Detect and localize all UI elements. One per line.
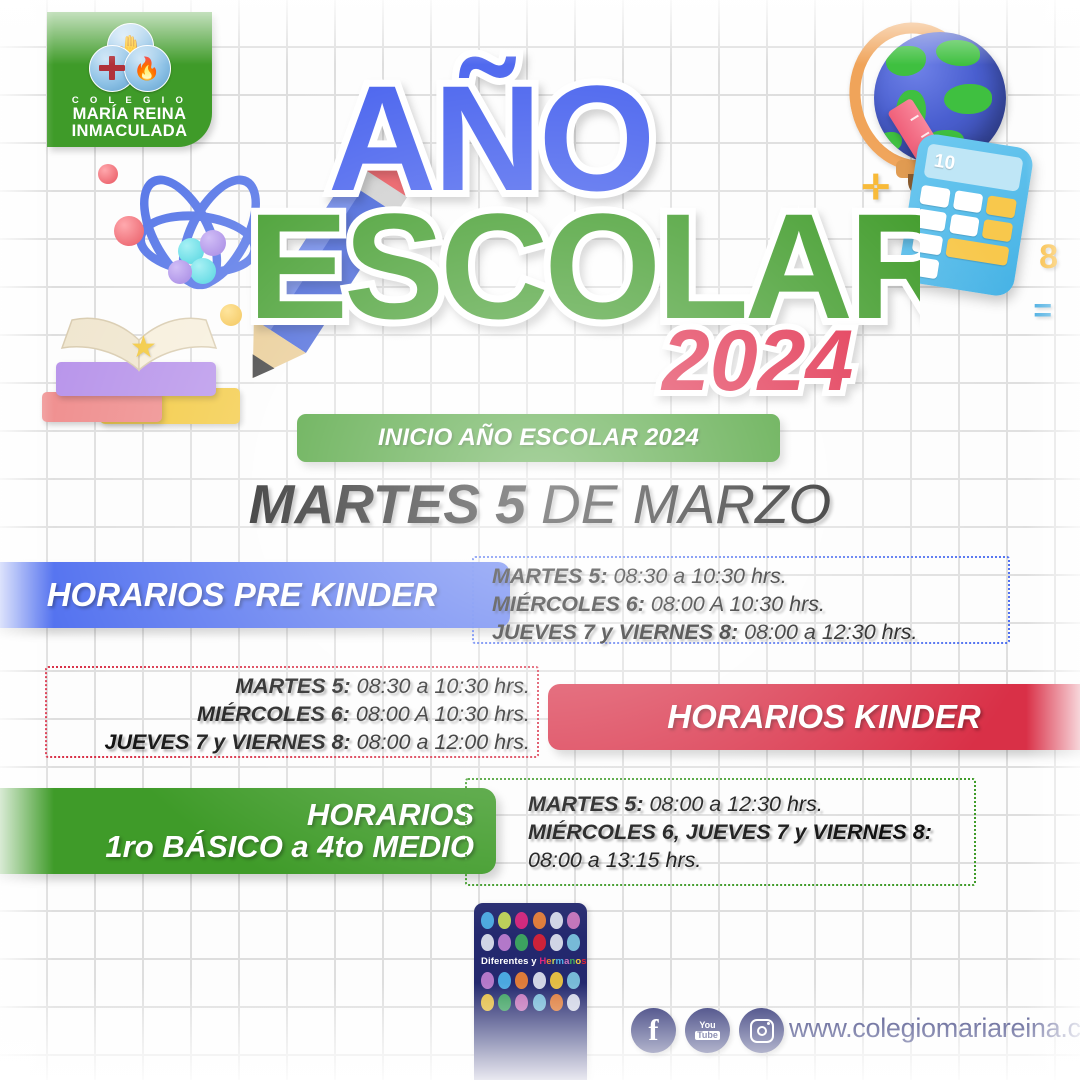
caption-part1: Diferentes y bbox=[481, 956, 539, 967]
poster-caption: Diferentes y Hermanos bbox=[481, 956, 580, 967]
schedule-line: MARTES 5: 08:00 a 12:30 hrs. bbox=[528, 790, 932, 818]
schedule-line: MIÉRCOLES 6, JUEVES 7 y VIERNES 8: bbox=[528, 818, 932, 846]
schedule-line: JUEVES 7 y VIERNES 8: 08:00 a 12:00 hrs. bbox=[60, 728, 530, 756]
fingerprint-row bbox=[481, 972, 580, 989]
schedule-label-text: HORARIOS 1ro BÁSICO a 4to MEDIO bbox=[105, 799, 474, 863]
diferentes-y-hermanos-poster: Diferentes y Hermanos bbox=[474, 903, 587, 1080]
plus-sign-icon: ✛ bbox=[862, 168, 891, 208]
schedule-line: 08:00 a 13:15 hrs. bbox=[528, 846, 932, 874]
schedule-times-basico-medio: MARTES 5: 08:00 a 12:30 hrs. MIÉRCOLES 6… bbox=[528, 790, 932, 874]
calculator-display: 10 bbox=[923, 143, 1023, 192]
schedule-times-pre-kinder: MARTES 5: 08:30 a 10:30 hrs. MIÉRCOLES 6… bbox=[492, 562, 917, 646]
website-url[interactable]: www.colegiomariareina.cl bbox=[789, 1013, 1080, 1044]
calculator-keys bbox=[908, 185, 1017, 290]
poster-canvas: 10 8 = ✛ bbox=[0, 0, 1080, 1080]
books-illustration: ★ bbox=[38, 300, 258, 430]
main-date-rest: DE MARZO bbox=[526, 473, 832, 535]
fingerprint-row bbox=[481, 994, 580, 1011]
schedule-label-line1: HORARIOS bbox=[105, 799, 474, 831]
schedule-line: MIÉRCOLES 6: 08:00 A 10:30 hrs. bbox=[60, 700, 530, 728]
social-links: f You Tube bbox=[631, 1008, 784, 1053]
schedule-label-text: HORARIOS KINDER bbox=[667, 700, 981, 734]
main-date: MARTES 5 DE MARZO bbox=[0, 474, 1080, 534]
schedule-times-kinder: MARTES 5: 08:30 a 10:30 hrs. MIÉRCOLES 6… bbox=[60, 672, 530, 756]
inicio-banner-text: INICIO AÑO ESCOLAR 2024 bbox=[378, 424, 699, 452]
fingerprint-row bbox=[481, 934, 580, 951]
hero-word-ano: AÑO bbox=[328, 54, 652, 222]
hero-year: 2024 bbox=[660, 313, 853, 409]
logo-name-line1: MARÍA REINA bbox=[73, 106, 187, 123]
inicio-banner: INICIO AÑO ESCOLAR 2024 bbox=[297, 414, 780, 462]
flame-icon: 🔥 bbox=[124, 45, 171, 92]
instagram-icon[interactable] bbox=[739, 1008, 784, 1053]
schedule-label-text: HORARIOS PRE KINDER bbox=[47, 578, 438, 612]
number-eight-icon: 8 bbox=[1039, 238, 1058, 277]
main-date-strong: MARTES 5 bbox=[249, 473, 526, 535]
hero-wordmark: AÑO ESCOLAR 2024 bbox=[240, 18, 920, 418]
facebook-icon[interactable]: f bbox=[631, 1008, 676, 1053]
youtube-icon[interactable]: You Tube bbox=[685, 1008, 730, 1053]
fingerprint-row bbox=[481, 912, 580, 929]
calculator-illustration: 10 bbox=[897, 132, 1035, 298]
schedule-line: MIÉRCOLES 6: 08:00 A 10:30 hrs. bbox=[492, 590, 917, 618]
schedule-line: JUEVES 7 y VIERNES 8: 08:00 a 12:30 hrs. bbox=[492, 618, 917, 646]
schedule-line: MARTES 5: 08:30 a 10:30 hrs. bbox=[492, 562, 917, 590]
logo-emblem: 🤚 🔥 bbox=[89, 23, 171, 91]
schedule-label-basico-medio[interactable]: HORARIOS 1ro BÁSICO a 4to MEDIO bbox=[0, 788, 496, 874]
caption-part2: Hermanos bbox=[539, 956, 586, 967]
logo-name-line2: INMACULADA bbox=[72, 123, 188, 140]
hero-word-escolar: ESCOLAR bbox=[248, 182, 920, 350]
equals-sign-icon: = bbox=[1033, 292, 1052, 329]
schedule-label-kinder[interactable]: HORARIOS KINDER bbox=[548, 684, 1080, 750]
schedule-line: MARTES 5: 08:30 a 10:30 hrs. bbox=[60, 672, 530, 700]
school-logo-badge[interactable]: 🤚 🔥 C O L E G I O MARÍA REINA INMACULADA bbox=[47, 12, 212, 147]
schedule-label-pre-kinder[interactable]: HORARIOS PRE KINDER bbox=[0, 562, 510, 628]
schedule-label-line2: 1ro BÁSICO a 4to MEDIO bbox=[105, 831, 474, 863]
